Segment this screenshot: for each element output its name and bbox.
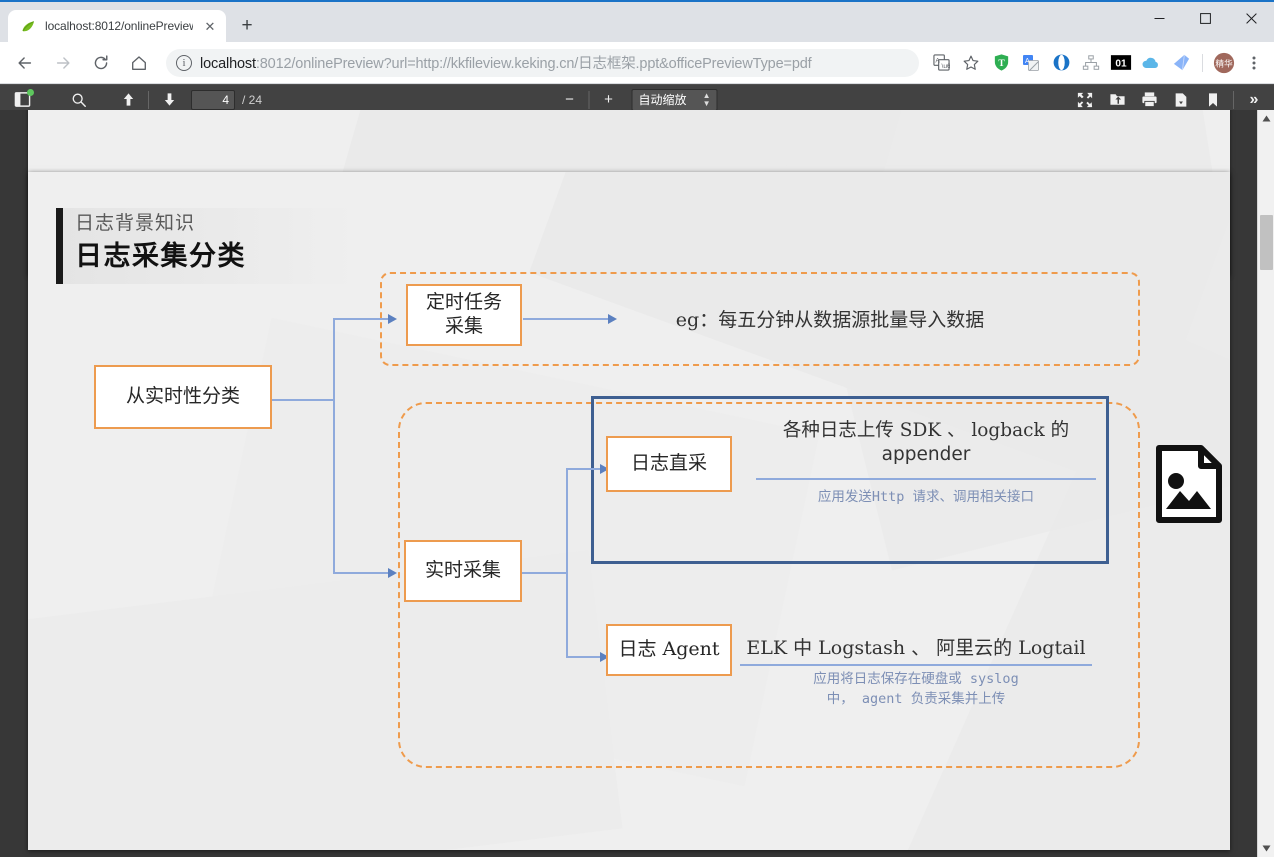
chevron-updown-icon: ▲▼ [703, 92, 711, 108]
direct-collection-note-line1: 各种日志上传 SDK 、 logback 的 [748, 416, 1104, 442]
tab-strip: localhost:8012/onlinePreview? ✕ + [0, 2, 1136, 42]
pdf-page-viewport[interactable]: 日志背景知识 日志采集分类 [0, 110, 1274, 857]
realtime-collection-label: 实时采集 [425, 559, 501, 583]
svg-text:A: A [935, 58, 940, 65]
print-icon[interactable] [1134, 87, 1164, 113]
pdf-page-current: 日志背景知识 日志采集分类 [28, 172, 1230, 850]
extension-bar: A \u6587 T A [927, 49, 1268, 77]
url-rest: :8012/onlinePreview?url=http://kkfilevie… [256, 56, 812, 72]
scroll-up-button[interactable] [1258, 110, 1274, 127]
page-up-icon[interactable] [113, 87, 143, 113]
sitemap-icon[interactable] [1077, 49, 1105, 77]
arrow-scheduled-note [608, 314, 617, 324]
kite-icon[interactable] [1167, 49, 1195, 77]
log-agent-box: 日志 Agent [606, 624, 732, 676]
star-icon[interactable] [957, 49, 985, 77]
realtime-collection-box: 实时采集 [404, 540, 522, 602]
window-controls [1136, 2, 1274, 42]
minimize-button[interactable] [1136, 2, 1182, 34]
reload-button[interactable] [85, 47, 117, 79]
pdf-zoom-controls: − + 自动缩放 ▲▼ [557, 88, 718, 112]
browser-menu-button[interactable] [1240, 49, 1268, 77]
scheduled-task-label-line2: 采集 [445, 315, 483, 339]
divider [1202, 54, 1203, 72]
scrollbar-thumb[interactable] [1260, 215, 1273, 270]
connector-scheduled-note [523, 318, 613, 320]
slide-content: 日志背景知识 日志采集分类 [28, 172, 1230, 850]
title-bar: localhost:8012/onlinePreview? ✕ + [0, 0, 1274, 42]
scheduled-note: eg：每五分钟从数据源批量导入数据 [620, 305, 1040, 332]
sidebar-toggle-icon[interactable] [7, 87, 37, 113]
new-tab-button[interactable]: + [232, 11, 262, 41]
google-translate-icon[interactable]: A [1017, 49, 1045, 77]
url-host: localhost [200, 56, 256, 72]
zoom-out-button[interactable]: − [557, 88, 583, 112]
zoom-level-select[interactable]: 自动缩放 ▲▼ [632, 89, 718, 111]
avatar[interactable]: 精华 [1210, 49, 1238, 77]
connector-root-horizontal [271, 399, 335, 401]
svg-text:T: T [998, 59, 1005, 69]
page-number-input[interactable]: 4 [191, 90, 235, 110]
counter-badge-icon[interactable]: 01 [1107, 49, 1135, 77]
root-category-box: 从实时性分类 [94, 365, 272, 429]
direct-collection-divider [756, 478, 1096, 480]
log-agent-note: ELK 中 Logstash 、 阿里云的 Logtail [728, 633, 1104, 660]
spring-leaf-icon [20, 18, 36, 34]
log-agent-divider [740, 664, 1092, 666]
direct-collection-sub-note: 应用发送Http 请求、调用相关接口 [748, 487, 1104, 507]
zoom-level-value: 自动缩放 [639, 91, 687, 108]
translate-icon[interactable]: A \u6587 [927, 49, 955, 77]
opera-vpn-icon[interactable] [1047, 49, 1075, 77]
navigation-toolbar: i localhost:8012/onlinePreview?url=http:… [0, 42, 1274, 84]
zoom-in-button[interactable]: + [596, 88, 622, 112]
svg-text:\u6587: \u6587 [941, 63, 950, 70]
scheduled-task-label-line1: 定时任务 [426, 291, 502, 315]
avatar-label: 精华 [1215, 57, 1233, 69]
page-down-icon[interactable] [154, 87, 184, 113]
pdf-toolbar-left: 4 / 24 [0, 87, 262, 113]
broken-image-icon [1156, 445, 1222, 523]
pdf-toolbar-right: » [1069, 87, 1274, 113]
search-icon[interactable] [64, 87, 94, 113]
log-agent-label: 日志 Agent [618, 638, 719, 662]
vertical-scrollbar[interactable] [1257, 110, 1274, 857]
scheduled-task-box: 定时任务 采集 [406, 284, 522, 346]
sidebar-status-dot [27, 89, 34, 96]
tools-button[interactable]: » [1239, 87, 1269, 113]
tampermonkey-icon[interactable]: T [987, 49, 1015, 77]
url-text: localhost:8012/onlinePreview?url=http://… [200, 52, 812, 73]
cloud-icon[interactable] [1137, 49, 1165, 77]
direct-collection-note-line2: appender [748, 444, 1104, 465]
download-icon[interactable] [1166, 87, 1196, 113]
direct-collection-label: 日志直采 [631, 452, 707, 476]
open-file-icon[interactable] [1102, 87, 1132, 113]
close-icon[interactable]: ✕ [202, 18, 218, 34]
info-icon[interactable]: i [176, 55, 192, 71]
log-agent-sub-note-line2: 中， agent 负责采集并上传 [728, 689, 1104, 709]
log-agent-sub-note-line1: 应用将日志保存在硬盘或 syslog [728, 669, 1104, 689]
maximize-button[interactable] [1182, 2, 1228, 34]
slide-subtitle: 日志背景知识 [75, 208, 195, 235]
arrow-to-scheduled [388, 314, 397, 324]
connector-to-scheduled [333, 318, 393, 320]
browser-tab[interactable]: localhost:8012/onlinePreview? ✕ [8, 10, 226, 42]
connector-to-realtime [333, 572, 393, 574]
svg-text:01: 01 [1115, 59, 1127, 70]
divider [148, 91, 149, 109]
arrow-to-realtime [388, 568, 397, 578]
home-button[interactable] [123, 47, 155, 79]
connector-realtime-vertical [566, 468, 568, 658]
scroll-down-button[interactable] [1258, 840, 1274, 857]
divider [1233, 91, 1234, 109]
bookmark-icon[interactable] [1198, 87, 1228, 113]
browser-window: localhost:8012/onlinePreview? ✕ + [0, 0, 1274, 857]
tab-title: localhost:8012/onlinePreview? [45, 19, 193, 33]
close-window-button[interactable] [1228, 2, 1274, 34]
forward-button[interactable] [47, 47, 79, 79]
page-title: 日志采集分类 [75, 234, 246, 273]
page-total-label: / 24 [242, 93, 262, 107]
fullscreen-icon[interactable] [1070, 87, 1100, 113]
svg-text:A: A [1025, 58, 1030, 65]
address-bar[interactable]: i localhost:8012/onlinePreview?url=http:… [166, 49, 919, 77]
connector-root-vertical [333, 318, 335, 574]
direct-collection-box: 日志直采 [606, 436, 732, 492]
divider [589, 91, 590, 109]
connector-realtime-horizontal [522, 572, 568, 574]
back-button[interactable] [9, 47, 41, 79]
title-accent-bar [56, 208, 63, 284]
tools-label: » [1250, 91, 1259, 109]
root-category-label: 从实时性分类 [126, 385, 240, 409]
